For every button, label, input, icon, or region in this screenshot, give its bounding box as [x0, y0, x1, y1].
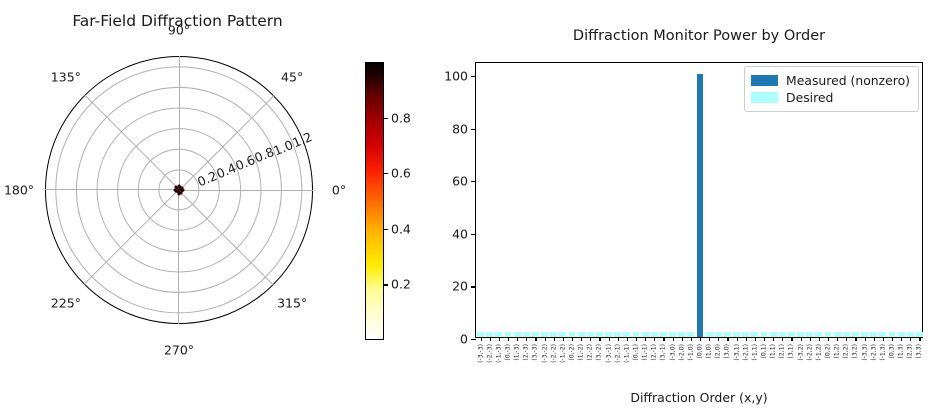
colorbar-tick-label-0.6: 0.6	[391, 166, 411, 181]
x-axis-tick	[855, 337, 856, 341]
x-axis-tick	[673, 337, 674, 341]
x-axis-tick-label: (1,3)	[898, 344, 905, 358]
y-axis-tick	[471, 234, 476, 235]
bar-chart-title: Diffraction Monitor Power by Order	[475, 28, 923, 44]
x-axis-tick-label: (0,2)	[825, 344, 832, 358]
x-axis-tick-label: (2,-1)	[651, 344, 658, 361]
x-axis-tick-label: (0,-3)	[505, 344, 512, 361]
x-axis-tick-label: (2,3)	[907, 344, 914, 358]
legend-swatch-desired-icon	[751, 92, 778, 103]
legend-item-desired[interactable]: Desired	[751, 89, 910, 106]
x-axis-tick	[709, 337, 710, 341]
x-axis-tick	[581, 337, 582, 341]
x-axis-tick	[554, 337, 555, 341]
x-axis-tick-label: (-2,-2)	[550, 344, 557, 363]
polar-angle-label-135deg: 135°	[51, 69, 81, 84]
colorbar-tick	[384, 118, 388, 119]
x-axis-tick	[828, 337, 829, 341]
x-axis-tick-label: (2,1)	[779, 344, 786, 358]
x-axis-tick-label: (3,-1)	[660, 344, 667, 361]
x-axis-tick	[810, 337, 811, 341]
x-axis-tick	[599, 337, 600, 341]
x-axis-tick	[883, 337, 884, 341]
y-axis-tick	[471, 76, 476, 77]
polar-grid-spoke	[178, 190, 179, 324]
x-axis-tick	[654, 337, 655, 341]
x-axis-tick-label: (-2,0)	[678, 344, 685, 361]
x-axis-tick	[663, 337, 664, 341]
x-axis-tick	[636, 337, 637, 341]
x-axis-tick	[627, 337, 628, 341]
legend-swatch-measured-icon	[751, 75, 778, 86]
x-axis-tick-label: (-3,3)	[861, 344, 868, 361]
x-axis-tick	[618, 337, 619, 341]
x-axis-tick-label: (2,0)	[715, 344, 722, 358]
x-axis-tick-label: (-2,-1)	[614, 344, 621, 363]
x-axis-tick-label: (-3,-2)	[541, 344, 548, 363]
x-axis-tick-label: (-1,-3)	[495, 344, 502, 363]
x-axis-tick	[874, 337, 875, 341]
x-axis-tick	[517, 337, 518, 341]
y-axis-tick-label-40: 40	[452, 226, 468, 241]
x-axis-tick	[526, 337, 527, 341]
colorbar-gradient	[365, 62, 384, 340]
x-axis-tick	[892, 337, 893, 341]
x-axis-tick-label: (0,-1)	[633, 344, 640, 361]
x-axis-tick-label: (3,1)	[788, 344, 795, 358]
polar-angle-label-45deg: 45°	[281, 69, 303, 84]
x-axis-tick-label: (-1,-1)	[623, 344, 630, 363]
legend-label-desired: Desired	[786, 90, 833, 105]
bar-measured	[697, 74, 702, 337]
x-axis-tick	[773, 337, 774, 341]
y-axis-tick	[471, 286, 476, 287]
x-axis-tick-label: (-1,1)	[751, 344, 758, 361]
polar-angle-label-315deg: 315°	[277, 296, 307, 311]
x-axis-tick-label: (2,2)	[843, 344, 850, 358]
x-axis-tick-label: (0,0)	[697, 344, 704, 358]
x-axis-tick	[508, 337, 509, 341]
x-axis-tick-label: (-3,-3)	[477, 344, 484, 363]
colorbar-tick	[384, 173, 388, 174]
x-axis-tick	[801, 337, 802, 341]
x-axis-tick-label: (-1,3)	[879, 344, 886, 361]
x-axis-tick-label: (-2,2)	[806, 344, 813, 361]
x-axis-tick-label: (0,-2)	[569, 344, 576, 361]
figure-canvas: Far-Field Diffraction Pattern 0°45°90°13…	[0, 0, 932, 411]
x-axis-tick	[481, 337, 482, 341]
x-axis-tick	[727, 337, 728, 341]
colorbar-panel: 0.20.40.60.8	[355, 0, 427, 411]
y-axis-tick-label-100: 100	[444, 69, 468, 84]
x-axis-tick	[791, 337, 792, 341]
x-axis-tick	[764, 337, 765, 341]
x-axis-tick	[572, 337, 573, 341]
x-axis-tick-label: (-3,-1)	[605, 344, 612, 363]
y-axis-tick-label-0: 0	[460, 332, 468, 347]
bar-chart-panel: Diffraction Monitor Power by Order 02040…	[427, 0, 932, 411]
x-axis-tick-label: (0,3)	[889, 344, 896, 358]
x-axis-tick-label: (1,-2)	[578, 344, 585, 361]
x-axis-tick	[691, 337, 692, 341]
x-axis-tick-label: (3,3)	[916, 344, 923, 358]
x-axis-tick-label: (-1,-2)	[559, 344, 566, 363]
polar-angle-label-225deg: 225°	[51, 296, 81, 311]
legend-item-measured[interactable]: Measured (nonzero)	[751, 72, 910, 89]
y-axis-tick	[471, 181, 476, 182]
x-axis-tick-label: (1,1)	[770, 344, 777, 358]
x-axis-tick-label: (1,2)	[834, 344, 841, 358]
colorbar-tick	[384, 284, 388, 285]
x-axis-tick-label: (-2,-3)	[486, 344, 493, 363]
y-axis-tick-label-60: 60	[452, 174, 468, 189]
x-axis-tick-label: (-2,1)	[742, 344, 749, 361]
x-axis-label: Diffraction Order (x,y)	[475, 390, 923, 405]
x-axis-tick	[609, 337, 610, 341]
x-axis-tick-label: (1,0)	[706, 344, 713, 358]
y-axis-tick	[471, 129, 476, 130]
x-axis-tick	[901, 337, 902, 341]
polar-scatter-data	[174, 185, 185, 196]
x-axis-tick-label: (1,-3)	[514, 344, 521, 361]
x-axis-tick	[590, 337, 591, 341]
polar-angle-label-180deg: 180°	[4, 183, 34, 198]
x-axis-tick-label: (3,-2)	[596, 344, 603, 361]
x-axis-tick	[755, 337, 756, 341]
x-axis-tick	[490, 337, 491, 341]
x-axis-tick-label: (0,1)	[761, 344, 768, 358]
x-axis-tick	[645, 337, 646, 341]
x-axis-tick	[499, 337, 500, 341]
x-axis-tick	[545, 337, 546, 341]
polar-plot-area	[45, 56, 313, 324]
polar-angle-label-0deg: 0°	[332, 183, 346, 198]
polar-angle-label-90deg: 90°	[168, 23, 190, 38]
polar-angle-label-270deg: 270°	[164, 343, 194, 358]
x-axis-tick	[846, 337, 847, 341]
x-axis-tick	[782, 337, 783, 341]
colorbar-tick-label-0.2: 0.2	[391, 277, 411, 292]
x-axis-tick	[837, 337, 838, 341]
y-axis-tick	[471, 339, 476, 340]
x-axis-tick	[563, 337, 564, 341]
x-axis-tick-label: (3,0)	[724, 344, 731, 358]
x-axis-tick-label: (-3,2)	[797, 344, 804, 361]
x-axis-tick	[919, 337, 920, 341]
colorbar-tick-label-0.4: 0.4	[391, 221, 411, 236]
legend-label-measured: Measured (nonzero)	[786, 73, 910, 88]
x-axis-tick-label: (-1,0)	[687, 344, 694, 361]
x-axis-tick-label: (2,-2)	[587, 344, 594, 361]
x-axis-tick	[819, 337, 820, 341]
y-axis-tick-label-20: 20	[452, 279, 468, 294]
x-axis-tick-label: (-2,3)	[870, 344, 877, 361]
x-axis-tick	[746, 337, 747, 341]
x-axis-tick	[910, 337, 911, 341]
polar-grid-spoke	[45, 189, 179, 190]
x-axis-tick-label: (1,-1)	[642, 344, 649, 361]
x-axis-tick-label: (3,-3)	[532, 344, 539, 361]
polar-axes-panel: Far-Field Diffraction Pattern 0°45°90°13…	[0, 0, 355, 411]
y-axis-tick-label-80: 80	[452, 121, 468, 136]
chart-legend[interactable]: Measured (nonzero) Desired	[744, 66, 919, 112]
x-axis-tick	[682, 337, 683, 341]
polar-grid-spoke	[179, 190, 313, 191]
colorbar-tick	[384, 229, 388, 230]
polar-grid-spoke	[179, 56, 180, 190]
bar-chart-plot-area: 020406080100 (-3,-3)(-2,-3)(-1,-3)(0,-3)…	[475, 62, 923, 338]
x-axis-tick-label: (2,-3)	[523, 344, 530, 361]
x-axis-tick-label: (-1,2)	[815, 344, 822, 361]
x-axis-tick-label: (-3,0)	[669, 344, 676, 361]
x-axis-tick	[737, 337, 738, 341]
x-axis-tick	[700, 337, 701, 341]
x-axis-tick	[535, 337, 536, 341]
x-axis-tick-label: (-3,1)	[733, 344, 740, 361]
colorbar-tick-label-0.8: 0.8	[391, 110, 411, 125]
x-axis-tick-label: (3,2)	[852, 344, 859, 358]
x-axis-tick	[865, 337, 866, 341]
x-axis-tick	[718, 337, 719, 341]
